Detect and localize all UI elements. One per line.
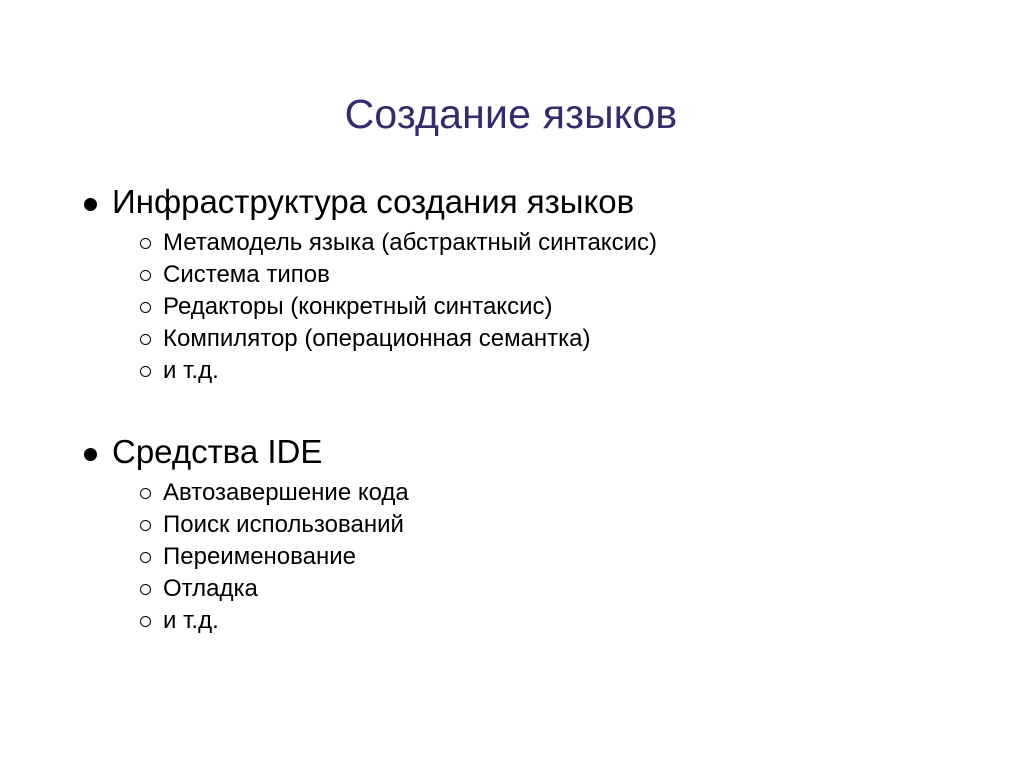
bullet-level2: Переименование — [140, 541, 964, 573]
slide-title: Создание языков — [0, 91, 1022, 138]
bullet-level2-label: и т.д. — [163, 605, 219, 637]
bullet-level2-label: Отладка — [163, 573, 258, 605]
hollow-circle-bullet-icon — [140, 359, 163, 383]
bullet-level2: Компилятор (операционная семантка) — [140, 323, 964, 355]
hollow-circle-bullet-icon — [140, 577, 163, 601]
bullet-level2: Поиск использований — [140, 509, 964, 541]
bullet-level2: Редакторы (конкретный синтаксис) — [140, 291, 964, 323]
bullet-level1: Средства IDE — [84, 433, 964, 472]
hollow-circle-bullet-icon — [140, 513, 163, 537]
hollow-circle-bullet-icon — [140, 545, 163, 569]
bullet-group: Инфраструктура создания языков Метамодел… — [84, 183, 964, 387]
bullet-level1-label: Инфраструктура создания языков — [112, 183, 634, 222]
bullet-level2: и т.д. — [140, 355, 964, 387]
sub-bullet-list: Метамодель языка (абстрактный синтаксис)… — [84, 227, 964, 387]
filled-disc-bullet-icon — [84, 445, 112, 467]
bullet-level1: Инфраструктура создания языков — [84, 183, 964, 222]
bullet-level2-label: Переименование — [163, 541, 356, 573]
hollow-circle-bullet-icon — [140, 327, 163, 351]
hollow-circle-bullet-icon — [140, 609, 163, 633]
bullet-level2: Метамодель языка (абстрактный синтаксис) — [140, 227, 964, 259]
bullet-level2: Отладка — [140, 573, 964, 605]
bullet-level2-label: Автозавершение кода — [163, 477, 409, 509]
bullet-level2: и т.д. — [140, 605, 964, 637]
filled-disc-bullet-icon — [84, 195, 112, 217]
bullet-level2-label: Редакторы (конкретный синтаксис) — [163, 291, 552, 323]
hollow-circle-bullet-icon — [140, 231, 163, 255]
bullet-level2-label: Система типов — [163, 259, 330, 291]
sub-bullet-list: Автозавершение кода Поиск использований … — [84, 477, 964, 637]
bullet-level2-label: Метамодель языка (абстрактный синтаксис) — [163, 227, 657, 259]
slide-content: Инфраструктура создания языков Метамодел… — [84, 183, 964, 637]
bullet-group: Средства IDE Автозавершение кода Поиск и… — [84, 433, 964, 637]
bullet-level2-label: Компилятор (операционная семантка) — [163, 323, 591, 355]
bullet-level2-label: и т.д. — [163, 355, 219, 387]
hollow-circle-bullet-icon — [140, 295, 163, 319]
bullet-level2: Система типов — [140, 259, 964, 291]
bullet-level1-label: Средства IDE — [112, 433, 322, 472]
bullet-level2-label: Поиск использований — [163, 509, 404, 541]
hollow-circle-bullet-icon — [140, 481, 163, 505]
bullet-level2: Автозавершение кода — [140, 477, 964, 509]
presentation-slide: Создание языков Инфраструктура создания … — [0, 0, 1022, 767]
hollow-circle-bullet-icon — [140, 263, 163, 287]
